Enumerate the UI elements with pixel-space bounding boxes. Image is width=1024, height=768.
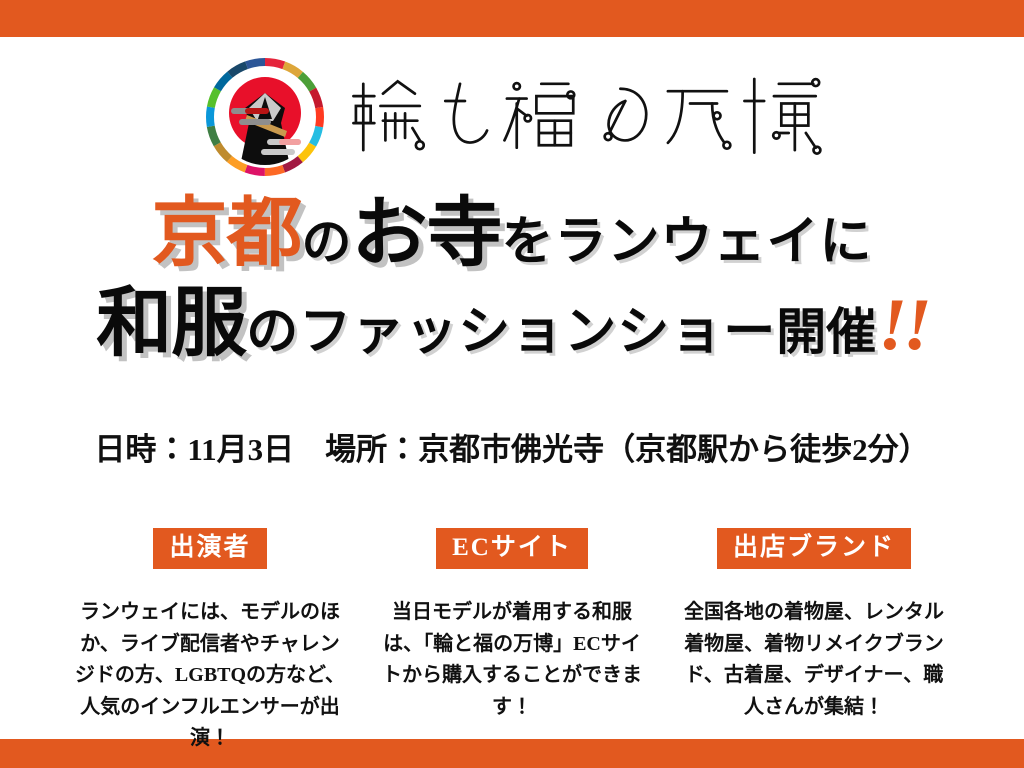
headline-exclamation: !!	[878, 284, 928, 366]
column-badge-brands: 出店ブランド	[717, 528, 911, 569]
headline-line1-tail: をランウェイに	[501, 214, 872, 271]
headline-kaisai: 開催	[776, 304, 876, 360]
top-accent-bar	[0, 0, 1024, 37]
column-badge-ec-site: ECサイト	[436, 528, 588, 569]
info-column-brands: 出店ブランド 全国各地の着物屋、レンタル着物屋、着物リメイクブランド、古着屋、デ…	[678, 528, 950, 723]
info-columns: 出演者 ランウェイには、モデルのほか、ライブ配信者やチャレンジドの方、LGBTQ…	[74, 528, 950, 755]
headline-line-1: 京都のお寺をランウェイに	[0, 196, 1024, 272]
headline-line2-fashionshow: のファッションショー	[246, 304, 776, 361]
logo-glyph-no	[586, 74, 655, 160]
column-body-performers: ランウェイには、モデルのほか、ライブ配信者やチャレンジドの方、LGBTQの方など…	[74, 597, 346, 755]
logo-glyph-wa	[351, 74, 425, 160]
logo-wordmark	[351, 67, 823, 167]
logo-glyph-fuku	[502, 74, 578, 160]
column-badge-performers: 出演者	[153, 528, 266, 569]
headline-line-2: 和服のファッションショー開催!!	[0, 286, 1024, 362]
column-body-ec-site: 当日モデルが着用する和服は、「輪と福の万博」ECサイトから購入することができます…	[376, 597, 648, 723]
headline-kyoto: 京都	[151, 192, 301, 276]
logo-glyph-to	[433, 74, 494, 160]
info-column-ec-site: ECサイト 当日モデルが着用する和服は、「輪と福の万博」ECサイトから購入するこ…	[376, 528, 648, 723]
event-poster: 京都のお寺をランウェイに 和服のファッションショー開催!! 日時：11月3日 場…	[0, 0, 1024, 768]
wa-to-fuku-expo-logo-mark-icon	[201, 53, 329, 181]
column-body-brands: 全国各地の着物屋、レンタル着物屋、着物リメイクブランド、古着屋、デザイナー、職人…	[678, 597, 950, 723]
logo-row	[0, 46, 1024, 188]
date-venue-line: 日時：11月3日 場所：京都市佛光寺（京都駅から徒歩2分）	[0, 424, 1024, 469]
headline-otera: お寺	[351, 192, 501, 276]
info-column-performers: 出演者 ランウェイには、モデルのほか、ライブ配信者やチャレンジドの方、LGBTQ…	[74, 528, 346, 755]
headline: 京都のお寺をランウェイに 和服のファッションショー開催!!	[0, 196, 1024, 362]
headline-wafuku: 和服	[96, 282, 246, 366]
logo-glyph-haku	[742, 74, 823, 160]
logo-glyph-man	[663, 74, 734, 160]
headline-line1-no: の	[301, 214, 351, 270]
